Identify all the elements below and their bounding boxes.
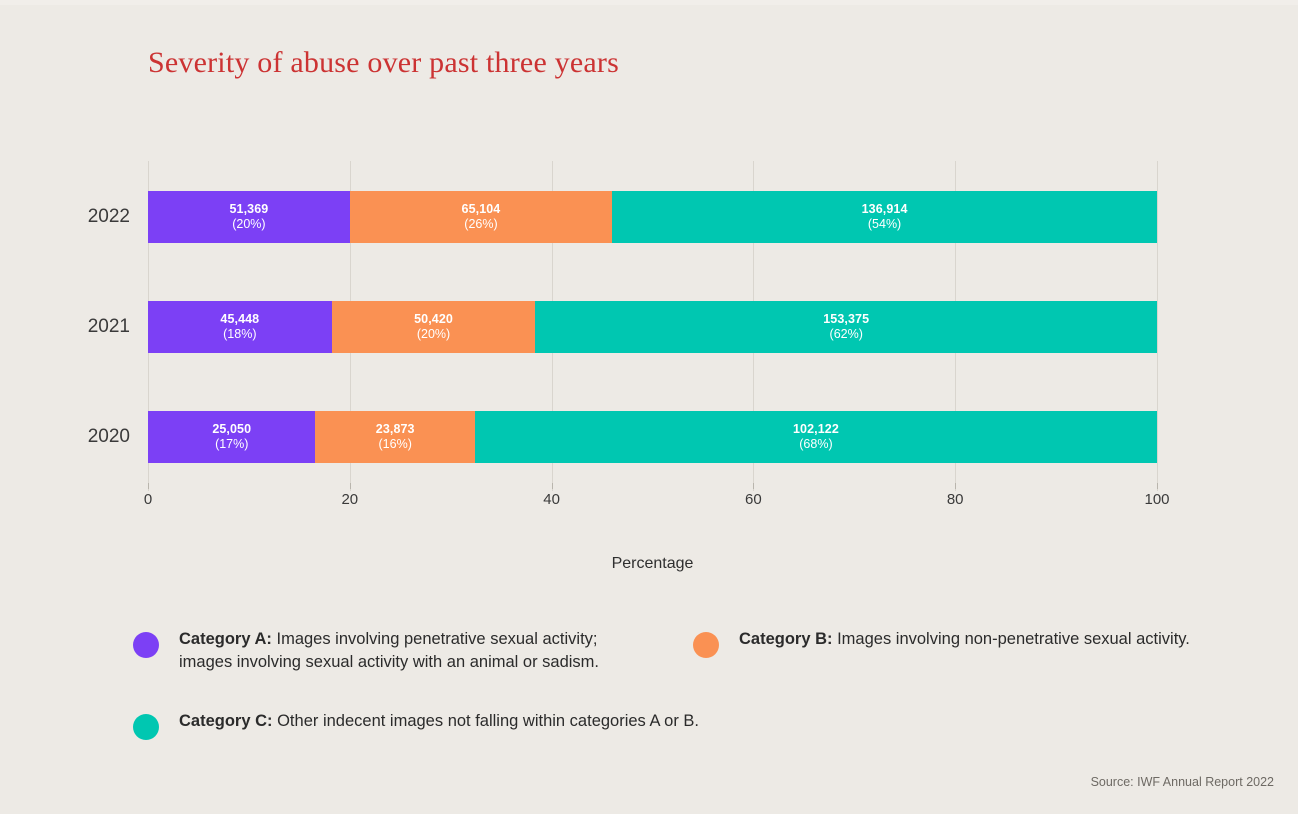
legend-swatch-category-a-icon: [133, 632, 159, 658]
legend-label-category-c: Category C:: [179, 712, 273, 730]
segment-count-label: 102,122: [793, 422, 839, 437]
bar-segment-2021-category-a[interactable]: 45,448(18%): [148, 301, 332, 353]
segment-percent-label: (16%): [379, 437, 412, 452]
legend-desc-category-b: Images involving non-penetrative sexual …: [833, 630, 1190, 648]
bar-row-2021: 202145,448(18%)50,420(20%)153,375(62%): [148, 301, 1157, 353]
legend-label-category-b: Category B:: [739, 630, 833, 648]
x-tick-mark-20: [350, 483, 351, 489]
x-tick-mark-40: [552, 483, 553, 489]
y-axis-label-2022: 2022: [88, 206, 130, 228]
bar-row-2020: 202025,050(17%)23,873(16%)102,122(68%): [148, 411, 1157, 463]
bar-segment-2020-category-a[interactable]: 25,050(17%): [148, 411, 315, 463]
segment-count-label: 25,050: [212, 422, 251, 437]
x-tick-label-20: 20: [341, 491, 358, 508]
x-tick-label-80: 80: [947, 491, 964, 508]
y-axis-label-2021: 2021: [88, 316, 130, 338]
bar-row-2022: 202251,369(20%)65,104(26%)136,914(54%): [148, 191, 1157, 243]
x-tick-mark-80: [955, 483, 956, 489]
legend-text-category-c: Category C: Other indecent images not fa…: [179, 710, 699, 733]
x-tick-label-60: 60: [745, 491, 762, 508]
legend-row-top: Category A: Images involving penetrative…: [133, 628, 1193, 674]
y-axis-label-2020: 2020: [88, 426, 130, 448]
legend-text-category-b: Category B: Images involving non-penetra…: [739, 628, 1190, 651]
x-tick-mark-100: [1157, 483, 1158, 489]
top-edge-strip: [0, 0, 1298, 5]
x-tick-mark-60: [753, 483, 754, 489]
page-title: Severity of abuse over past three years: [148, 46, 619, 80]
x-tick-label-0: 0: [144, 491, 152, 508]
bar-segment-2021-category-b[interactable]: 50,420(20%): [332, 301, 536, 353]
x-tick-label-100: 100: [1144, 491, 1169, 508]
bar-segment-2022-category-b[interactable]: 65,104(26%): [350, 191, 612, 243]
x-axis-ticks: 020406080100: [148, 491, 1157, 521]
segment-percent-label: (68%): [799, 437, 832, 452]
legend-desc-category-c: Other indecent images not falling within…: [273, 712, 700, 730]
bar-segment-2022-category-a[interactable]: 51,369(20%): [148, 191, 350, 243]
legend-item-category-c: Category C: Other indecent images not fa…: [133, 710, 1193, 740]
legend-item-category-b: Category B: Images involving non-penetra…: [693, 628, 1193, 658]
bar-segment-2020-category-c[interactable]: 102,122(68%): [475, 411, 1157, 463]
legend-text-category-a: Category A: Images involving penetrative…: [179, 628, 649, 674]
segment-percent-label: (20%): [232, 217, 265, 232]
segment-count-label: 136,914: [862, 202, 908, 217]
segment-count-label: 65,104: [462, 202, 501, 217]
segment-count-label: 45,448: [220, 312, 259, 327]
chart-plot-area: 202251,369(20%)65,104(26%)136,914(54%)20…: [148, 161, 1157, 491]
bar-segment-2021-category-c[interactable]: 153,375(62%): [535, 301, 1157, 353]
segment-percent-label: (54%): [868, 217, 901, 232]
segment-percent-label: (26%): [464, 217, 497, 232]
x-tick-label-40: 40: [543, 491, 560, 508]
x-tick-mark-0: [148, 483, 149, 489]
gridline-100: [1157, 161, 1158, 491]
bar-segment-2022-category-c[interactable]: 136,914(54%): [612, 191, 1157, 243]
legend-item-category-a: Category A: Images involving penetrative…: [133, 628, 693, 674]
legend-swatch-category-c-icon: [133, 714, 159, 740]
x-axis-title: Percentage: [148, 555, 1157, 573]
bar-segment-2020-category-b[interactable]: 23,873(16%): [315, 411, 474, 463]
segment-percent-label: (62%): [830, 327, 863, 342]
source-note: Source: IWF Annual Report 2022: [1091, 775, 1274, 789]
segment-count-label: 50,420: [414, 312, 453, 327]
segment-count-label: 23,873: [376, 422, 415, 437]
segment-count-label: 51,369: [229, 202, 268, 217]
segment-percent-label: (20%): [417, 327, 450, 342]
segment-percent-label: (18%): [223, 327, 256, 342]
segment-percent-label: (17%): [215, 437, 248, 452]
legend-label-category-a: Category A:: [179, 630, 272, 648]
segment-count-label: 153,375: [823, 312, 869, 327]
chart-legend: Category A: Images involving penetrative…: [133, 628, 1193, 740]
legend-swatch-category-b-icon: [693, 632, 719, 658]
